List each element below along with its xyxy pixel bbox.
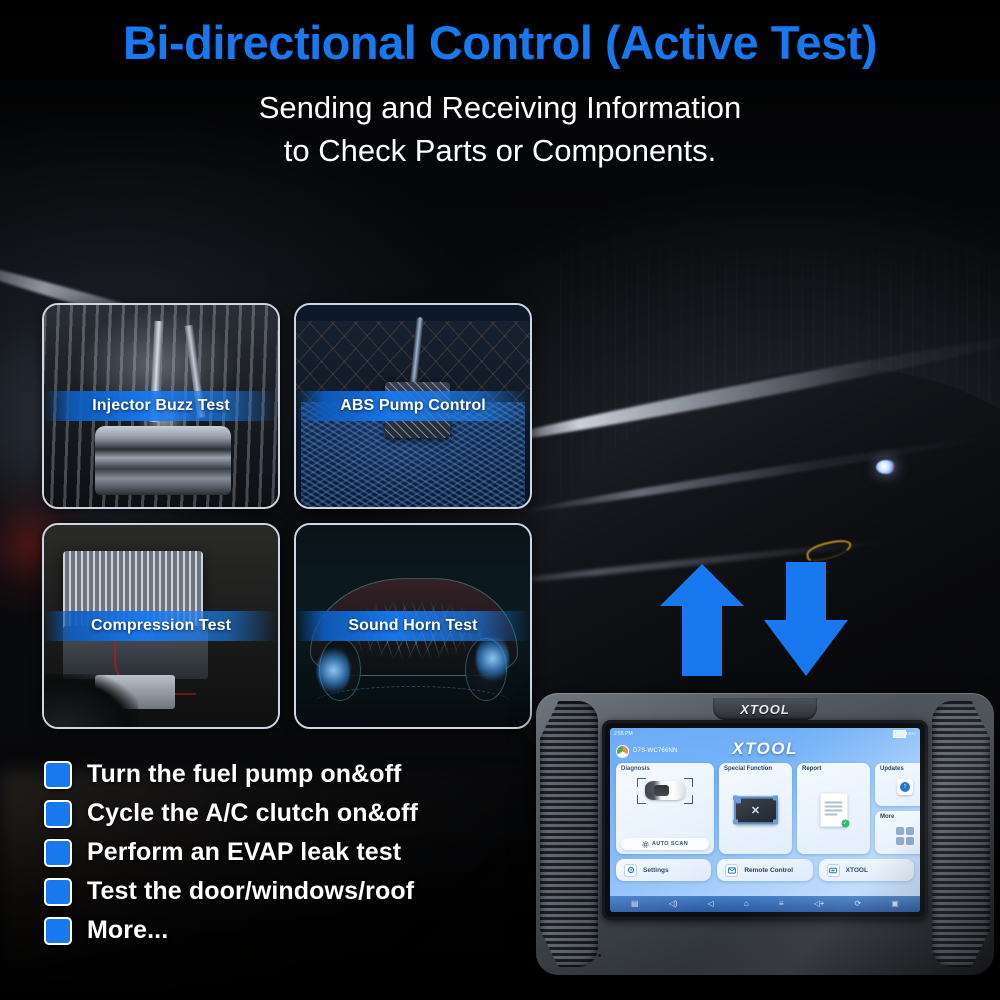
envelope-icon — [725, 864, 738, 877]
bidirectional-arrows — [660, 560, 870, 680]
checkbox-icon — [44, 761, 72, 789]
auto-scan-button[interactable]: AUTO SCAN — [621, 838, 709, 850]
feature-card-injector-buzz-test[interactable]: Injector Buzz Test — [42, 303, 280, 509]
android-nav-bar: ▤ ◁) ◁ ⌂ ≡ ◁+ ⟳ ▣ — [610, 896, 920, 912]
tile-label: Updates — [880, 766, 904, 772]
tile-label: Diagnosis — [621, 766, 650, 772]
feature-card-label: Sound Horn Test — [296, 611, 530, 641]
arrow-down-icon — [764, 562, 848, 676]
xtool-tablet-device: XTOOL 2:55 PM 99% D7S-WC766NN XTOOL — [536, 693, 994, 975]
menu-icon[interactable]: ≡ — [779, 900, 784, 908]
vci-dongle-icon: ✕ — [734, 796, 778, 824]
tablet-bezel-logo: XTOOL — [713, 698, 817, 720]
arrows-svg — [660, 560, 870, 680]
feature-card-label: ABS Pump Control — [296, 391, 530, 421]
checkbox-icon — [44, 800, 72, 828]
scan-icon — [642, 841, 649, 848]
feature-bullet-list: Turn the fuel pump on&off Cycle the A/C … — [44, 760, 514, 955]
promo-banner: Bi-directional Control (Active Test) Sen… — [0, 0, 1000, 1000]
tablet-screen-frame: 2:55 PM 99% D7S-WC766NN XTOOL Diagnosis — [602, 720, 928, 920]
tile-more[interactable]: More — [875, 811, 920, 854]
auto-scan-label: AUTO SCAN — [652, 841, 688, 847]
battery-icon — [893, 730, 906, 738]
gear-icon — [624, 864, 637, 877]
subtitle-line-1: Sending and Receiving Information — [259, 90, 742, 125]
bullet-label: Turn the fuel pump on&off — [87, 760, 401, 789]
feature-card-compression-test[interactable]: Compression Test — [42, 523, 280, 729]
xtool-app-icon — [827, 864, 840, 877]
battery-percent-label: 99% — [908, 731, 916, 736]
bullet-label: More... — [87, 916, 168, 945]
arrow-up-icon — [660, 564, 744, 676]
tablet-grip-left — [540, 701, 598, 967]
feature-card-label: Compression Test — [44, 611, 278, 641]
screenshot-icon[interactable]: ▤ — [631, 900, 639, 908]
tile-label: More — [880, 814, 894, 820]
header: Bi-directional Control (Active Test) Sen… — [0, 0, 1000, 200]
list-item: Test the door/windows/roof — [44, 877, 514, 906]
home-icon[interactable]: ⌂ — [744, 900, 749, 908]
quick-action-settings[interactable]: Settings — [616, 859, 711, 881]
tile-label: Special Function — [724, 766, 772, 772]
report-badge: ✓ — [841, 820, 849, 828]
volume-down-icon[interactable]: ◁) — [669, 900, 678, 908]
volume-up-icon[interactable]: ◁+ — [814, 900, 825, 908]
app-brand-logo: XTOOL — [732, 739, 798, 759]
page-subtitle: Sending and Receiving Information to Che… — [0, 67, 1000, 173]
list-item: More... — [44, 916, 514, 945]
feature-card-sound-horn-test[interactable]: Sound Horn Test — [294, 523, 532, 729]
quick-action-xtool[interactable]: XTOOL — [819, 859, 914, 881]
screen-rotate-icon[interactable]: ⟳ — [855, 900, 862, 908]
bullet-label: Cycle the A/C clutch on&off — [87, 799, 418, 828]
status-bar: 2:55 PM 99% — [610, 728, 920, 739]
grid-2x2-icon — [896, 827, 914, 845]
back-icon[interactable]: ◁ — [708, 900, 714, 908]
quick-action-remote-control[interactable]: Remote Control — [717, 859, 812, 881]
feature-card-abs-pump-control[interactable]: ABS Pump Control — [294, 303, 532, 509]
bezel-brand-label: XTOOL — [740, 702, 790, 717]
status-indicators: 99% — [893, 730, 916, 738]
car-top-view-icon — [637, 778, 693, 804]
avatar[interactable] — [616, 745, 629, 758]
app-tile-grid: Diagnosis AUTO SCAN — [610, 762, 920, 854]
document-icon: ✓ — [820, 794, 847, 827]
bullet-label: Test the door/windows/roof — [87, 877, 414, 906]
video-icon[interactable]: ▣ — [891, 900, 899, 908]
quick-action-label: XTOOL — [846, 867, 868, 874]
status-time: 2:55 PM — [614, 731, 633, 737]
page-title: Bi-directional Control (Active Test) — [0, 0, 1000, 67]
tablet-grip-right — [932, 701, 990, 967]
list-item: Cycle the A/C clutch on&off — [44, 799, 514, 828]
tile-report[interactable]: Report ✓ — [797, 763, 870, 854]
checkbox-icon — [44, 917, 72, 945]
tile-special-function[interactable]: Special Function ✕ — [719, 763, 792, 854]
quick-action-row: Settings Remote Control XTOOL — [610, 854, 920, 881]
checkbox-icon — [44, 839, 72, 867]
tablet-screen[interactable]: 2:55 PM 99% D7S-WC766NN XTOOL Diagnosis — [610, 728, 920, 912]
checkbox-icon — [44, 878, 72, 906]
quick-action-label: Remote Control — [744, 867, 793, 874]
device-serial-label: D7S-WC766NN — [633, 748, 678, 754]
subtitle-line-2: to Check Parts or Components. — [284, 133, 716, 168]
feature-card-label: Injector Buzz Test — [44, 391, 278, 421]
car-headlight — [876, 460, 896, 474]
account-row: D7S-WC766NN XTOOL — [610, 739, 920, 762]
tile-diagnosis[interactable]: Diagnosis AUTO SCAN — [616, 763, 714, 854]
download-arrow-icon: ↑ — [897, 779, 913, 795]
list-item: Turn the fuel pump on&off — [44, 760, 514, 789]
tile-label: Report — [802, 766, 821, 772]
quick-action-label: Settings — [643, 867, 669, 874]
tile-updates[interactable]: Updates ↑ — [875, 763, 920, 806]
feature-card-grid: Injector Buzz Test ABS Pump Control Comp… — [42, 303, 532, 743]
bullet-label: Perform an EVAP leak test — [87, 838, 401, 867]
list-item: Perform an EVAP leak test — [44, 838, 514, 867]
tablet-camera-dot — [598, 954, 601, 957]
